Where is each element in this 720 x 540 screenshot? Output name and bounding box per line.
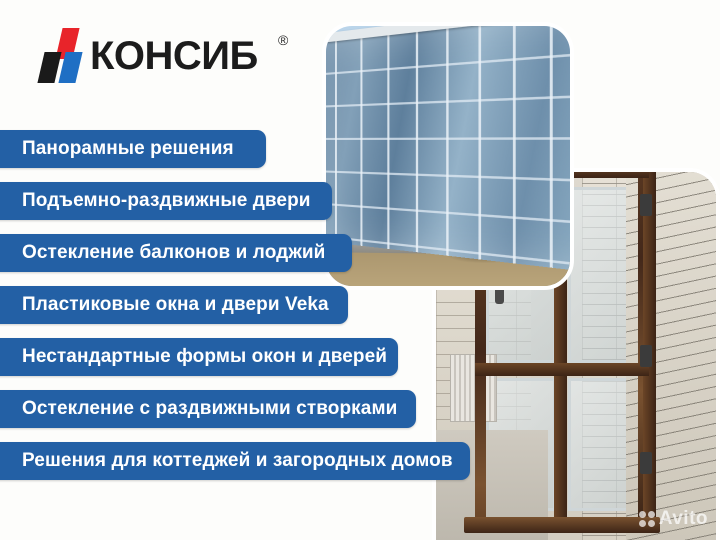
advertisement-banner: КОНСИБ ® Панорамные решенияП [0,0,720,540]
service-banner[interactable]: Остекление балконов и лоджий [0,234,352,272]
service-banner-label: Решения для коттеджей и загородных домов [22,450,453,472]
door-threshold [464,517,660,533]
avito-watermark: Avito [639,508,708,530]
door-hinge-icon [640,194,652,216]
service-banner[interactable]: Решения для коттеджей и загородных домов [0,442,470,480]
service-banner[interactable]: Нестандартные формы окон и дверей [0,338,398,376]
company-logo: КОНСИБ ® [38,26,278,88]
service-banner-label: Остекление балконов и лоджий [22,242,325,264]
company-name: КОНСИБ [90,32,258,80]
service-banner-label: Подъемно-раздвижные двери [22,190,311,212]
avito-wordmark: Avito [659,508,708,530]
door-mullion-horizontal [475,363,649,376]
panoramic-glass-facade-photo [322,22,574,290]
service-banner-label: Остекление с раздвижными створками [22,398,397,420]
service-banner-label: Пластиковые окна и двери Veka [22,294,329,316]
logo-parallelogram-black-icon [37,52,61,83]
glass-curtain-wall [322,22,574,279]
service-banner[interactable]: Подъемно-раздвижные двери [0,182,332,220]
service-banner[interactable]: Панорамные решения [0,130,266,168]
avito-dots-icon [639,511,655,527]
service-banner[interactable]: Пластиковые окна и двери Veka [0,286,348,324]
service-banner-label: Нестандартные формы окон и дверей [22,346,387,368]
service-banner-label: Панорамные решения [22,138,234,160]
door-hinge-icon [640,452,652,474]
service-banner[interactable]: Остекление с раздвижными створками [0,390,416,428]
registered-trademark-icon: ® [278,32,288,48]
door-hinge-icon [640,345,652,367]
logo-mark-icon [38,26,86,84]
